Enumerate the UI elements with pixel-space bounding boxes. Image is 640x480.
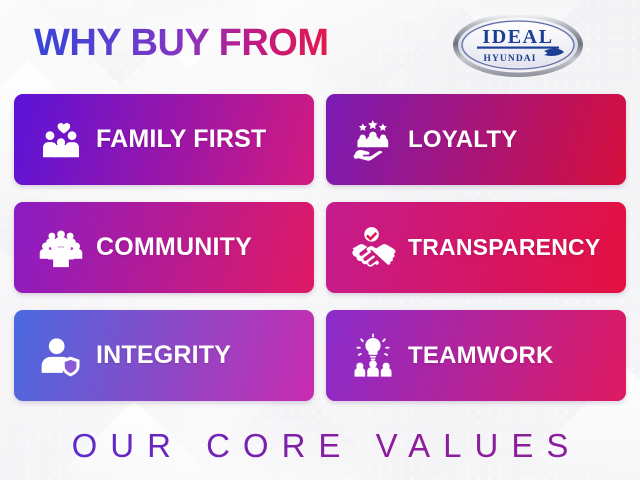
- page-title: WHY BUY FROM: [34, 24, 329, 62]
- footer-tagline: OUR CORE VALUES: [59, 427, 582, 465]
- value-card-label: LOYALTY: [408, 128, 517, 152]
- svg-text:HYUNDAI: HYUNDAI: [483, 54, 536, 64]
- hyundai-oval-logo-icon: IDEAL HYUNDAI: [452, 12, 584, 78]
- values-card-grid: FAMILY FIRST LOYALTY: [14, 94, 626, 401]
- value-card-label: TEAMWORK: [408, 344, 554, 368]
- hand-holding-people-stars-icon: [350, 117, 396, 163]
- value-card-family-first[interactable]: FAMILY FIRST: [14, 94, 314, 185]
- value-card-label: COMMUNITY: [96, 235, 252, 260]
- brand-logo: IDEAL HYUNDAI: [452, 12, 584, 78]
- value-card-label: INTEGRITY: [96, 343, 231, 368]
- header: WHY BUY FROM: [0, 0, 640, 88]
- value-card-teamwork[interactable]: TEAMWORK: [326, 310, 626, 401]
- value-card-transparency[interactable]: TRANSPARENCY: [326, 202, 626, 293]
- slide-canvas: WHY BUY FROM: [0, 0, 640, 480]
- person-shield-icon: [38, 333, 84, 379]
- value-card-loyalty[interactable]: LOYALTY: [326, 94, 626, 185]
- value-card-label: TRANSPARENCY: [408, 236, 600, 259]
- value-card-integrity[interactable]: INTEGRITY: [14, 310, 314, 401]
- family-heart-icon: [38, 117, 84, 163]
- value-card-label: FAMILY FIRST: [96, 127, 266, 152]
- handshake-check-icon: [350, 225, 396, 271]
- lightbulb-team-icon: [350, 333, 396, 379]
- svg-text:IDEAL: IDEAL: [482, 26, 553, 48]
- footer: OUR CORE VALUES: [0, 412, 640, 480]
- value-card-community[interactable]: COMMUNITY: [14, 202, 314, 293]
- group-of-people-icon: [38, 225, 84, 271]
